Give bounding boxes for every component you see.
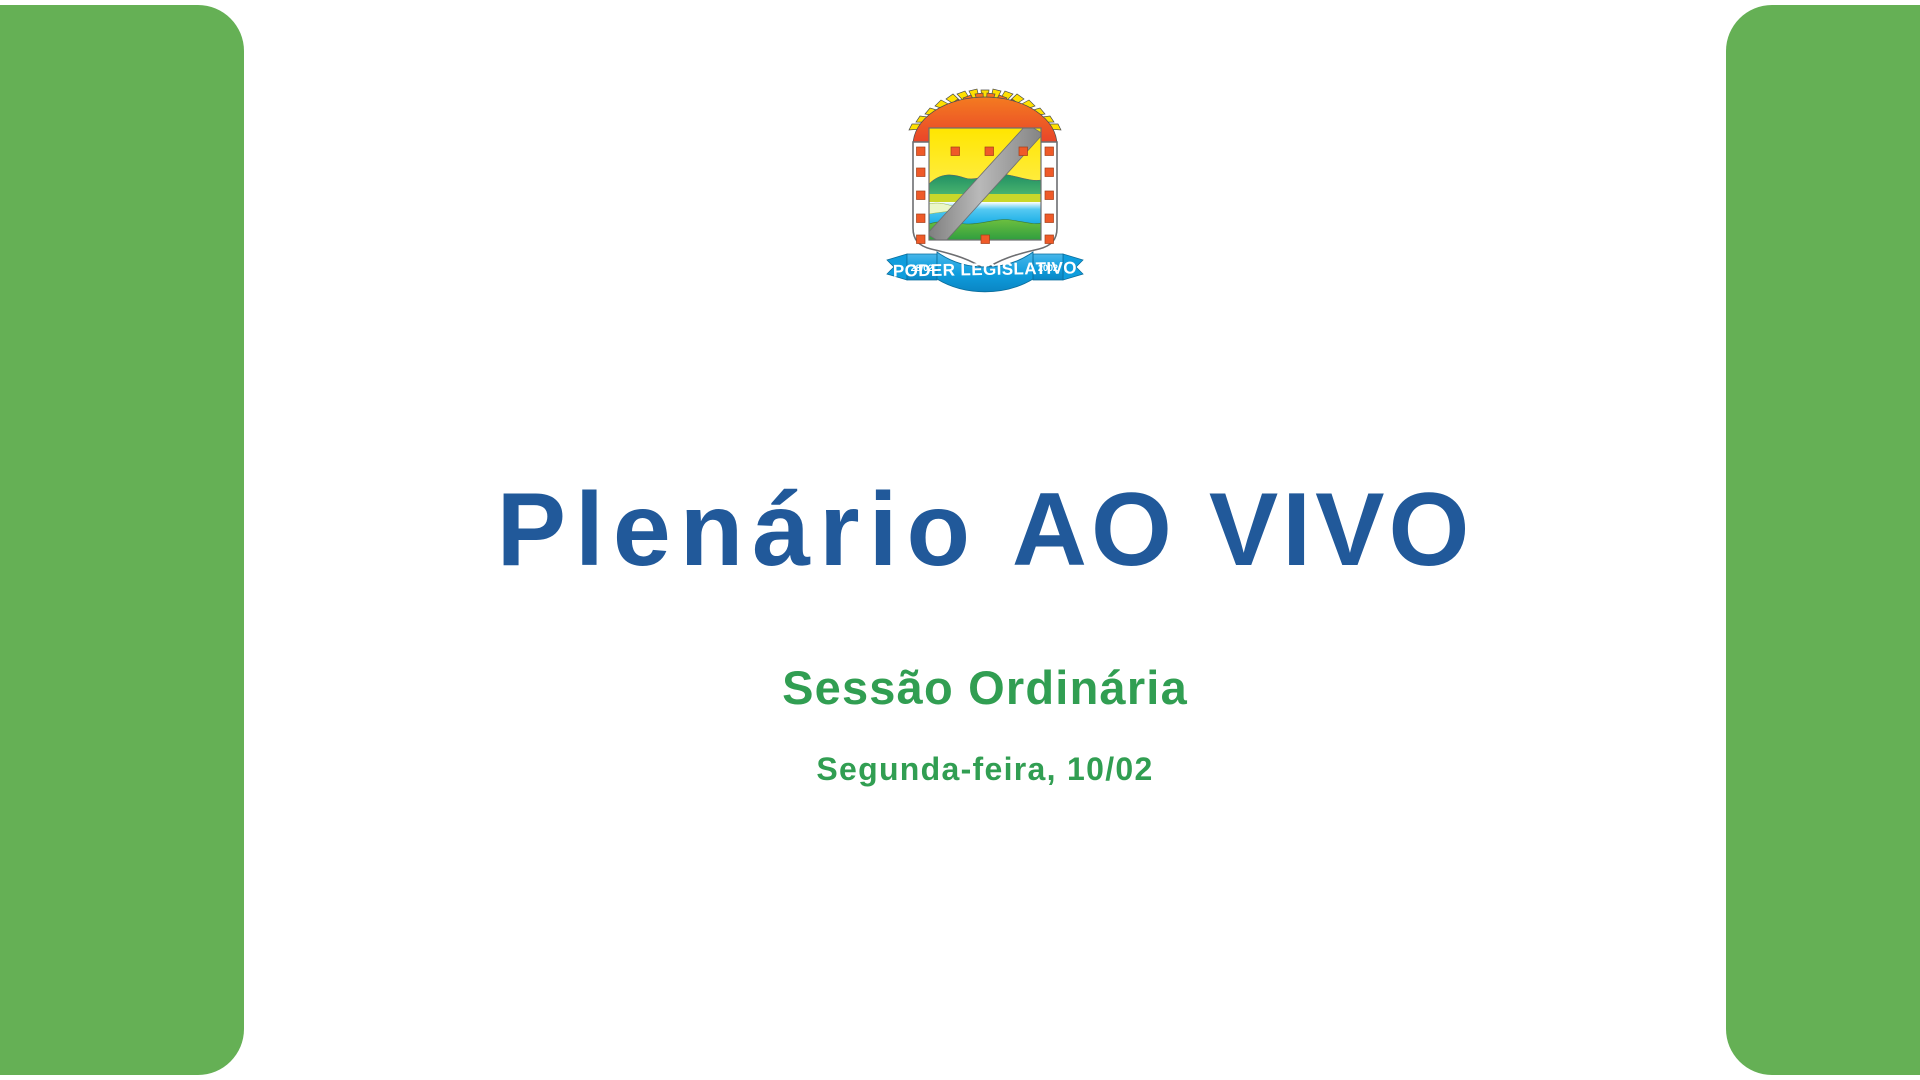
page-title-lead: Plenário (497, 472, 979, 588)
crest-container: 28/02 2002 PODER LEGISLATIVO (244, 88, 1726, 298)
shield-scene (927, 124, 1043, 244)
session-date-line: Segunda-feira, 10/02 (244, 752, 1726, 787)
session-type-subtitle: Sessão Ordinária (244, 662, 1726, 714)
page-title-highlight: AO VIVO (1012, 472, 1473, 588)
slide-content: 28/02 2002 PODER LEGISLATIVO Plenário AO… (244, 0, 1726, 1080)
left-green-panel (0, 5, 244, 1075)
broadcast-slide: 28/02 2002 PODER LEGISLATIVO Plenário AO… (0, 0, 1920, 1080)
coat-of-arms-icon: 28/02 2002 PODER LEGISLATIVO (885, 88, 1085, 298)
page-title: Plenário AO VIVO (244, 476, 1726, 585)
banner-center-text: PODER LEGISLATIVO (893, 258, 1077, 280)
right-green-panel (1726, 5, 1920, 1075)
page-title-space (979, 472, 1012, 588)
